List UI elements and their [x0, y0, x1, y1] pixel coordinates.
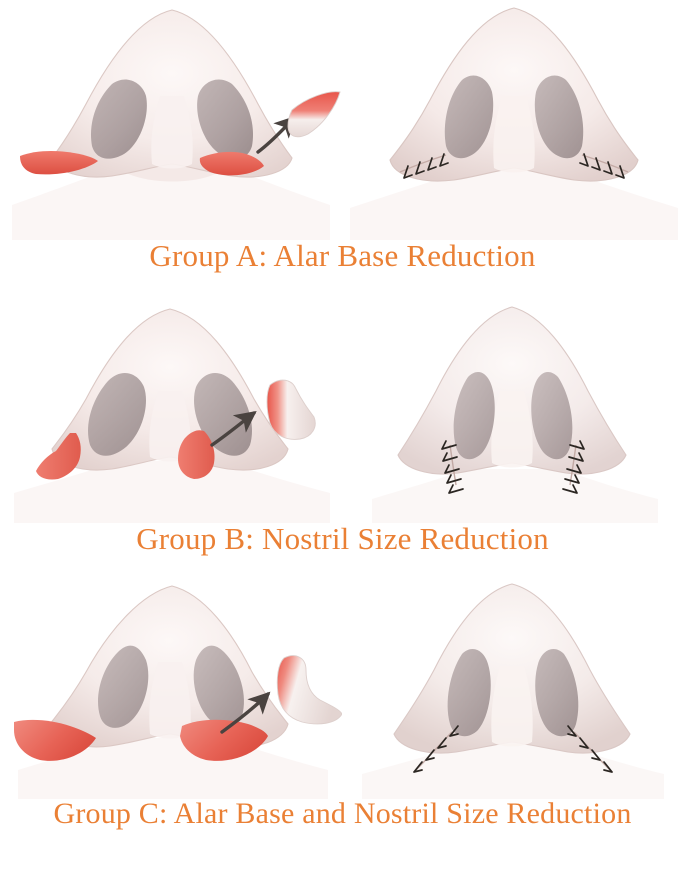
group-row-a: Group A: Alar Base Reduction — [0, 0, 685, 271]
group-a-postop-panel — [342, 0, 685, 240]
group-c-preop-panel — [0, 574, 342, 799]
group-b-postop-illustration — [342, 293, 685, 523]
group-a-postop-illustration — [342, 0, 685, 240]
excised-specimen — [277, 656, 342, 724]
group-b-preop-panel — [0, 293, 342, 523]
columella — [493, 96, 534, 173]
columella — [151, 96, 192, 169]
figure-root: Group A: Alar Base Reduction — [0, 0, 685, 869]
group-a-panels — [0, 0, 685, 240]
upper-lip — [350, 170, 678, 240]
group-c-postop-panel — [342, 574, 685, 799]
group-b-postop-panel — [342, 293, 685, 523]
group-a-caption: Group A: Alar Base Reduction — [0, 240, 685, 271]
excised-specimen — [288, 92, 340, 137]
group-b-panels — [0, 293, 685, 523]
group-c-caption: Group C: Alar Base and Nostril Size Redu… — [0, 799, 685, 829]
columella — [491, 391, 532, 468]
group-c-panels — [0, 574, 685, 799]
group-c-postop-illustration — [342, 574, 685, 799]
upper-lip — [372, 469, 658, 523]
group-b-preop-illustration — [0, 293, 342, 523]
group-row-c: Group C: Alar Base and Nostril Size Redu… — [0, 574, 685, 829]
group-a-preop-illustration — [0, 0, 342, 240]
group-c-preop-illustration — [0, 574, 342, 799]
group-row-b: Group B: Nostril Size Reduction — [0, 293, 685, 554]
columella — [491, 666, 532, 747]
excised-specimen — [267, 380, 315, 439]
group-b-caption: Group B: Nostril Size Reduction — [0, 523, 685, 554]
upper-lip — [362, 744, 664, 799]
group-a-preop-panel — [0, 0, 342, 240]
